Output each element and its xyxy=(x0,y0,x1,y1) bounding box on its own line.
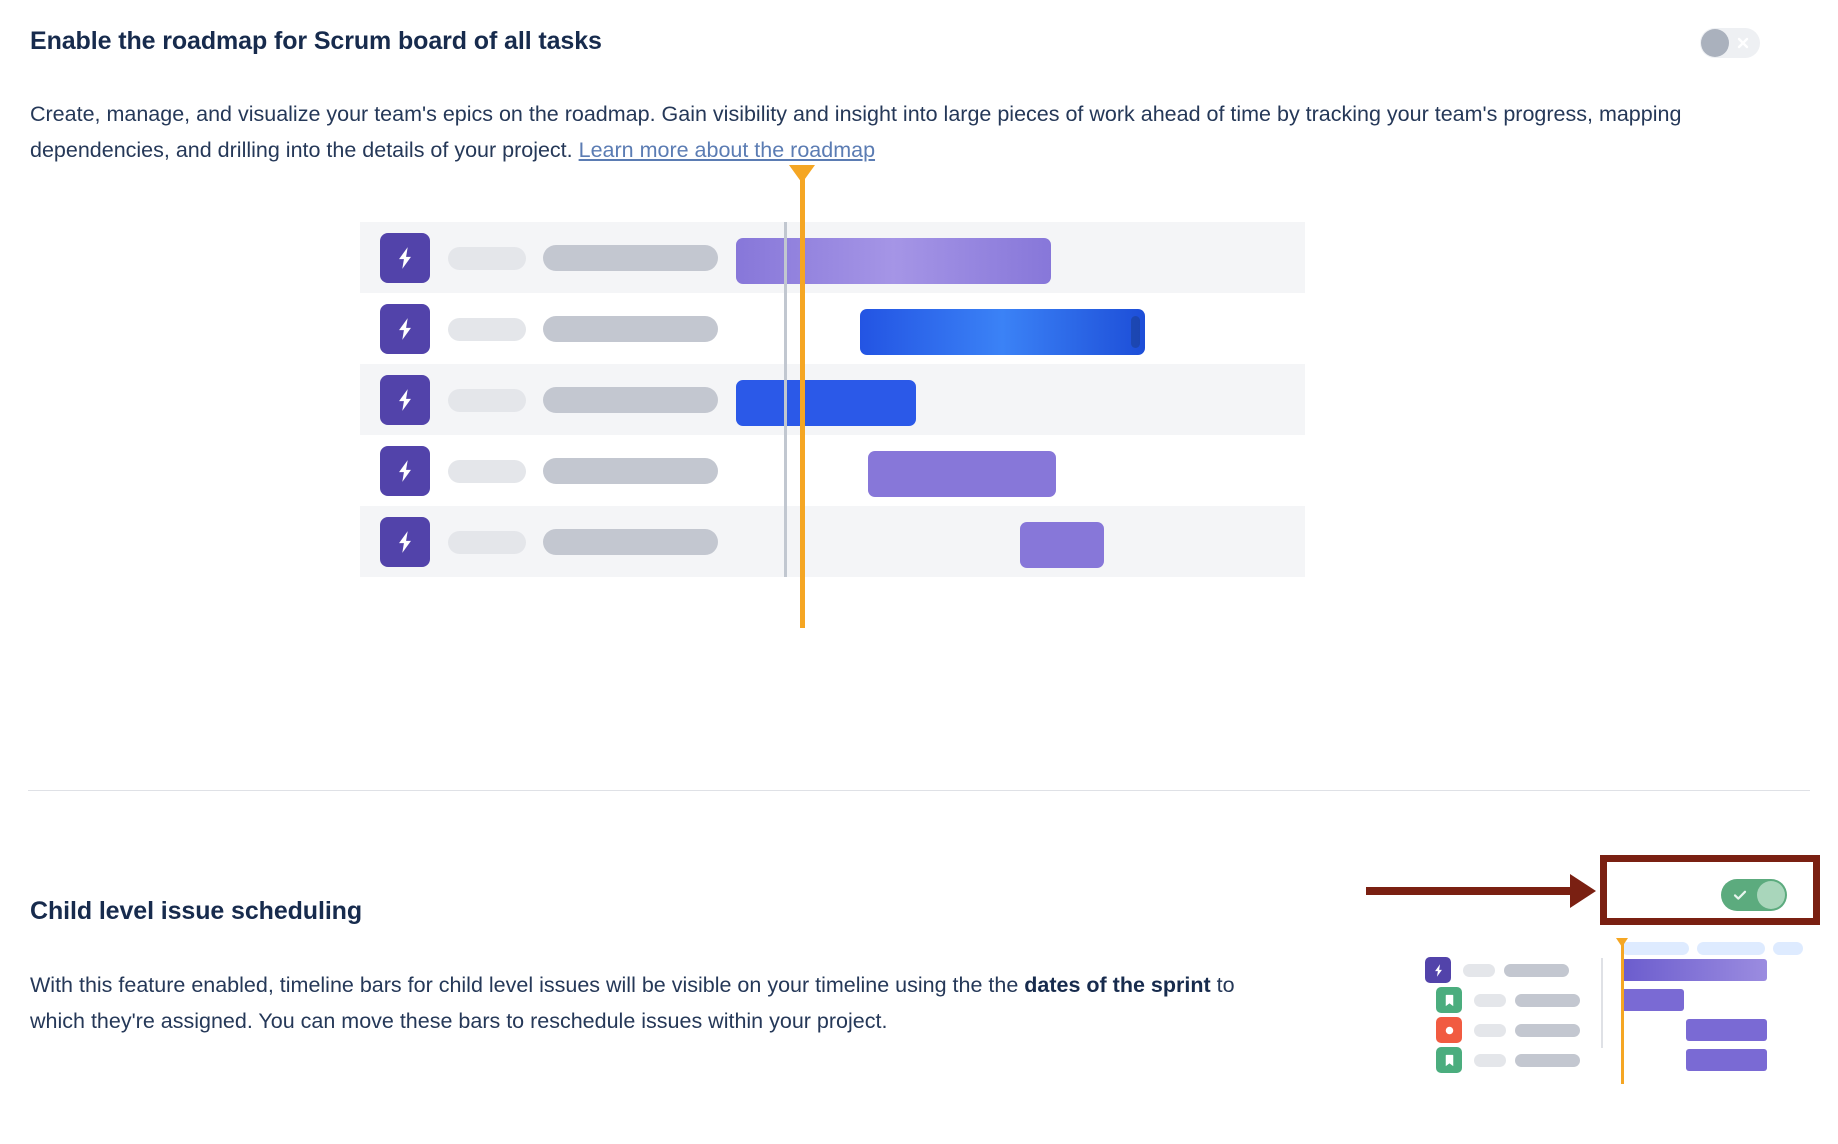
child-scheduling-description: With this feature enabled, timeline bars… xyxy=(30,967,1280,1039)
annotation-arrow-head-icon xyxy=(1570,874,1596,908)
story-bookmark-icon xyxy=(1436,1047,1462,1073)
row-title-placeholder xyxy=(543,316,718,342)
roadmap-row xyxy=(360,435,1305,506)
sprint-pill xyxy=(1697,942,1765,955)
row-key-placeholder xyxy=(448,531,526,554)
timeline-column-divider xyxy=(784,222,787,577)
row-title-placeholder xyxy=(543,458,718,484)
timeline-bar[interactable] xyxy=(1020,522,1104,568)
roadmap-row xyxy=(360,222,1305,293)
roadmap-row xyxy=(360,293,1305,364)
description-bold-phrase: dates of the sprint xyxy=(1024,973,1210,997)
today-marker-line xyxy=(1621,942,1624,1084)
annotation-arrow-shaft xyxy=(1366,887,1572,895)
row-title-placeholder xyxy=(543,245,718,271)
row-key-placeholder xyxy=(448,318,526,341)
epic-lightning-icon xyxy=(1425,957,1451,983)
row-key-placeholder xyxy=(1474,1024,1506,1037)
timeline-bar[interactable] xyxy=(736,380,916,426)
epic-lightning-icon xyxy=(380,304,430,354)
roadmap-row xyxy=(360,364,1305,435)
row-title-placeholder xyxy=(1515,994,1580,1007)
row-key-placeholder xyxy=(448,389,526,412)
epic-lightning-icon xyxy=(380,446,430,496)
roadmap-description: Create, manage, and visualize your team'… xyxy=(30,96,1775,168)
description-part-1: With this feature enabled, timeline bars… xyxy=(30,973,1024,997)
timeline-bar[interactable] xyxy=(1686,1019,1767,1041)
enable-roadmap-toggle[interactable] xyxy=(1700,28,1760,58)
section-divider xyxy=(28,790,1810,791)
roadmap-row xyxy=(360,506,1305,577)
timeline-bar[interactable] xyxy=(868,451,1056,497)
row-title-placeholder xyxy=(543,529,718,555)
story-bookmark-icon xyxy=(1436,987,1462,1013)
child-scheduling-title: Child level issue scheduling xyxy=(30,897,362,926)
bar-end-handle[interactable] xyxy=(1131,316,1140,348)
epic-lightning-icon xyxy=(380,375,430,425)
learn-more-roadmap-link[interactable]: Learn more about the roadmap xyxy=(579,138,875,162)
child-issue-roadmap-illustration xyxy=(1425,928,1838,1144)
row-key-placeholder xyxy=(448,247,526,270)
settings-page: Enable the roadmap for Scrum board of al… xyxy=(0,0,1838,1144)
task-circle-icon xyxy=(1436,1017,1462,1043)
today-marker-line xyxy=(800,178,805,628)
timeline-bar[interactable] xyxy=(860,309,1145,355)
row-key-placeholder xyxy=(1474,1054,1506,1067)
row-title-placeholder xyxy=(543,387,718,413)
timeline-column-divider xyxy=(1601,958,1603,1048)
timeline-bar[interactable] xyxy=(1621,989,1684,1011)
toggle-knob xyxy=(1757,881,1785,909)
epic-lightning-icon xyxy=(380,517,430,567)
check-icon xyxy=(1732,887,1748,903)
row-key-placeholder xyxy=(1474,994,1506,1007)
timeline-bar[interactable] xyxy=(1686,1049,1767,1071)
annotation-highlight-box xyxy=(1600,855,1820,925)
toggle-knob xyxy=(1701,29,1729,57)
sprint-pill xyxy=(1773,942,1803,955)
row-title-placeholder xyxy=(1515,1054,1580,1067)
epic-lightning-icon xyxy=(380,233,430,283)
child-level-scheduling-toggle[interactable] xyxy=(1721,879,1787,911)
close-x-icon xyxy=(1736,36,1750,50)
row-title-placeholder xyxy=(1504,964,1569,977)
timeline-bar[interactable] xyxy=(1621,959,1767,981)
row-key-placeholder xyxy=(448,460,526,483)
page-title: Enable the roadmap for Scrum board of al… xyxy=(30,27,602,56)
row-key-placeholder xyxy=(1463,964,1495,977)
roadmap-illustration xyxy=(360,222,1305,658)
sprint-pill xyxy=(1621,942,1689,955)
row-title-placeholder xyxy=(1515,1024,1580,1037)
